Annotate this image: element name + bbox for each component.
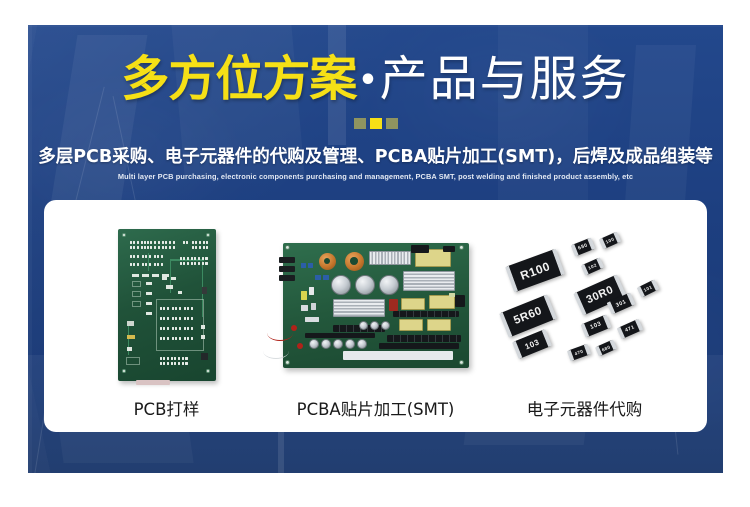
banner-headline: 多方位方案•产品与服务 (28, 55, 723, 103)
resistor-chip: 101 (636, 279, 659, 298)
banner-bottom-strip (28, 433, 723, 473)
promo-banner: 多方位方案•产品与服务 多层PCB采购、电子元器件的代购及管理、PCBA贴片加工… (28, 25, 723, 473)
product-card: PCB打样 (44, 200, 707, 432)
resistor-chip: 470 (566, 344, 590, 362)
resistor-chip: 680 (594, 339, 616, 356)
bare-pcb-graphic (118, 229, 216, 381)
banner-subtitle-english: Multi layer PCB purchasing, electronic c… (28, 172, 723, 181)
resistor-chip: R100 (505, 249, 565, 293)
product-item-component-sourcing[interactable]: 680 100 102 R100 30R0 101 5R60 301 103 1… (485, 214, 685, 424)
smd-resistors-graphic: 680 100 102 R100 30R0 101 5R60 301 103 1… (490, 235, 680, 375)
assembled-pcba-graphic (283, 243, 469, 368)
divider-square-1 (354, 118, 366, 129)
product-caption: 电子元器件代购 (527, 396, 643, 424)
pcba-board-image (276, 214, 476, 396)
divider-square-3 (386, 118, 398, 129)
product-caption: PCBA贴片加工(SMT) (297, 396, 455, 424)
divider-square-2 (370, 118, 382, 129)
resistors-image: 680 100 102 R100 30R0 101 5R60 301 103 1… (485, 214, 685, 396)
resistor-chip: 680 (570, 237, 595, 256)
divider-squares (28, 118, 723, 129)
product-caption: PCB打样 (134, 396, 200, 424)
pcb-board-image (67, 214, 267, 396)
headline-plain-text: 产品与服务 (380, 51, 630, 107)
resistor-chip: 471 (616, 319, 643, 340)
headline-separator-dot: • (356, 63, 379, 98)
resistor-chip: 100 (598, 231, 621, 249)
resistor-chip: 5R60 (499, 294, 557, 338)
headline-accent-text: 多方位方案 (121, 51, 356, 107)
resistor-chip: 102 (580, 257, 604, 276)
banner-subtitle-chinese: 多层PCB采购、电子元器件的代购及管理、PCBA贴片加工(SMT)，后焊及成品组… (28, 143, 723, 168)
product-item-pcba-smt[interactable]: PCBA贴片加工(SMT) (276, 214, 476, 424)
product-list: PCB打样 (44, 200, 707, 432)
product-item-pcb-prototype[interactable]: PCB打样 (67, 214, 267, 424)
resistor-chip: 103 (580, 314, 611, 337)
